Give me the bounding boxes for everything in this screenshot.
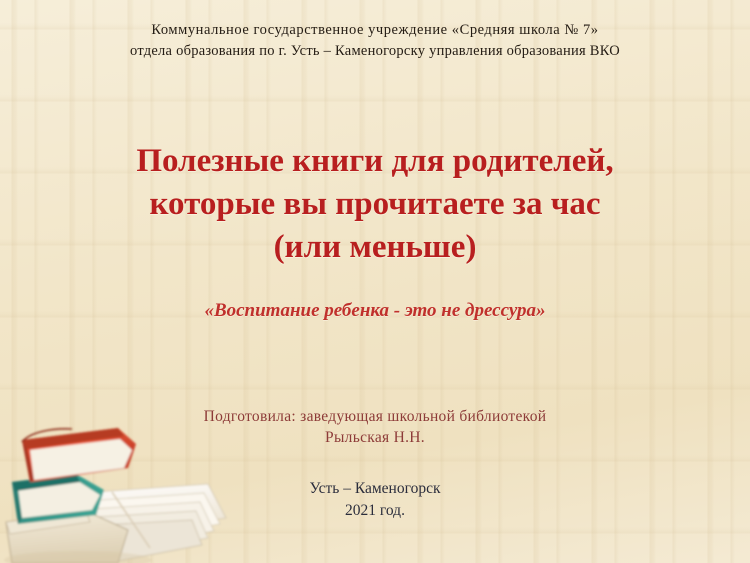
- place-and-year: Усть – Каменогорск 2021 год.: [0, 478, 750, 522]
- institution-header-line-2: отдела образования по г. Усть – Каменого…: [0, 41, 750, 62]
- subtitle-quote: «Воспитание ребенка - это не дрессура»: [0, 298, 750, 324]
- year-label: 2021 год.: [0, 500, 750, 522]
- page-title-line-1: Полезные книги для родителей,: [0, 140, 750, 183]
- page-title: Полезные книги для родителей, которые вы…: [0, 140, 750, 269]
- page-title-line-2: которые вы прочитаете за час: [0, 183, 750, 226]
- author-credit-role: Подготовила: заведующая школьной библиот…: [0, 406, 750, 427]
- institution-header-line-1: Коммунальное государственное учреждение …: [0, 20, 750, 41]
- presentation-title-slide: Коммунальное государственное учреждение …: [0, 0, 750, 563]
- page-title-line-3: (или меньше): [0, 226, 750, 269]
- institution-header: Коммунальное государственное учреждение …: [0, 20, 750, 62]
- city-label: Усть – Каменогорск: [0, 478, 750, 500]
- author-credit: Подготовила: заведующая школьной библиот…: [0, 406, 750, 448]
- author-credit-name: Рыльская Н.Н.: [0, 427, 750, 448]
